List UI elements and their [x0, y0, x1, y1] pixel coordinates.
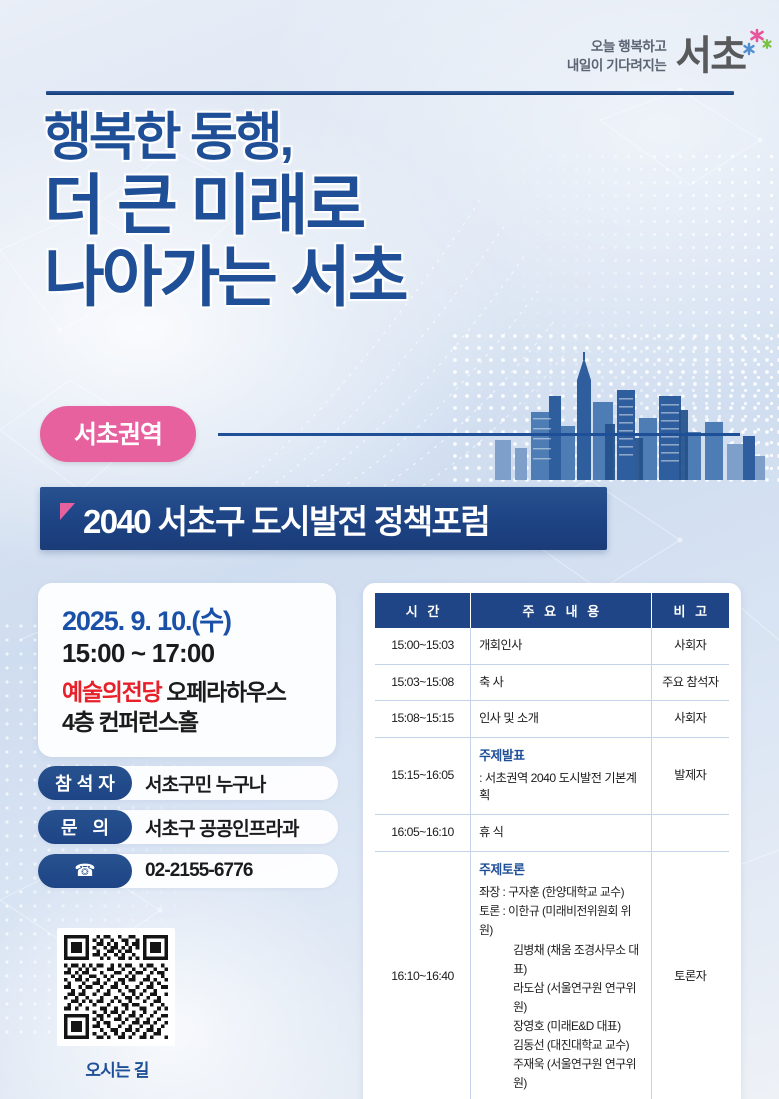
row-content: 휴 식 — [471, 814, 652, 851]
row-content: 축 사 — [471, 664, 652, 701]
table-row: 15:08~15:15 인사 및 소개 사회자 — [375, 701, 729, 738]
session-title-keynote: 주제발표 — [479, 747, 643, 766]
header-divider-rule — [46, 91, 734, 95]
event-date: 2025. 9. 10.(수) — [62, 605, 312, 637]
event-venue-line2: 4층 컨퍼런스홀 — [62, 708, 312, 738]
schedule-header-row: 시 간 주 요 내 용 비 고 — [375, 593, 729, 628]
row-note: 토론자 — [651, 851, 729, 1099]
headline-line-3: 나아가는 서초 — [44, 244, 604, 310]
qr-block[interactable]: 오시는 길 — [57, 928, 177, 1081]
row-content: 개회인사 — [471, 628, 652, 664]
table-row-panel: 16:10~16:40 주제토론 좌장 : 구자훈 (한양대학교 교수) 토론 … — [375, 851, 729, 1099]
row-time: 15:03~15:08 — [375, 664, 471, 701]
region-badge: 서초권역 — [40, 406, 196, 462]
table-row: 16:05~16:10 휴 식 — [375, 814, 729, 851]
row-note: 주요 참석자 — [651, 664, 729, 701]
table-row: 15:03~15:08 축 사 주요 참석자 — [375, 664, 729, 701]
schedule-table: 시 간 주 요 내 용 비 고 15:00~15:03 개회인사 사회자 15:… — [375, 593, 729, 1099]
forum-title: 2040 서초구 도시발전 정책포럼 — [83, 495, 489, 543]
row-time: 15:00~15:03 — [375, 628, 471, 664]
poster-headline: 행복한 동행, 더 큰 미래로 나아가는 서초 — [44, 112, 604, 310]
row-note: 발제자 — [651, 738, 729, 815]
session-subtitle-keynote: : 서초권역 2040 도시발전 기본계획 — [479, 770, 643, 805]
headline-line-2: 더 큰 미래로 — [44, 172, 604, 238]
panel-member: 김동선 (대진대학교 교수) — [479, 1036, 643, 1055]
logo-wordmark-group: 서초 — [675, 36, 745, 76]
pill-inquiry: 문 의 서초구 공공인프라과 — [38, 810, 338, 844]
venue-rest: 오페라하우스 — [161, 679, 285, 705]
panel-member: 라도삼 (서울연구원 연구위원) — [479, 979, 643, 1017]
logo-tagline: 오늘 행복하고 내일이 기다려지는 — [567, 37, 667, 75]
panel-member: 토론 : 이한규 (미래비전위원회 위원) — [479, 902, 643, 940]
row-time: 16:05~16:10 — [375, 814, 471, 851]
panel-member: 김병채 (채움 조경사무소 대표) — [479, 941, 643, 979]
pill-attendees: 참석자 서초구민 누구나 — [38, 766, 338, 800]
venue-highlight: 예술의전당 — [62, 679, 161, 705]
event-venue-line1: 예술의전당 오페라하우스 — [62, 678, 312, 708]
panel-member: 장영호 (미래E&D 대표) — [479, 1017, 643, 1036]
row-content: 주제발표 : 서초권역 2040 도시발전 기본계획 — [471, 738, 652, 815]
row-time: 15:08~15:15 — [375, 701, 471, 738]
session-title-panel: 주제토론 — [479, 861, 643, 880]
column-header-time: 시 간 — [375, 593, 471, 628]
telephone-icon: ☎ — [38, 854, 132, 888]
row-time: 15:15~16:05 — [375, 738, 471, 815]
region-divider-rule — [218, 433, 740, 436]
logo-wordmark: 서초 — [675, 36, 745, 76]
panel-member: 주재욱 (서울연구원 연구위원) — [479, 1055, 643, 1093]
row-note: 사회자 — [651, 628, 729, 664]
pill-label-attendees: 참석자 — [38, 766, 132, 800]
qr-code-svg — [64, 935, 168, 1039]
qr-code-image[interactable] — [57, 928, 175, 1046]
qr-caption: 오시는 길 — [57, 1056, 177, 1081]
panel-member-list: 좌장 : 구자훈 (한양대학교 교수) 토론 : 이한규 (미래비전위원회 위원… — [479, 883, 643, 1093]
table-row: 15:00~15:03 개회인사 사회자 — [375, 628, 729, 664]
row-content: 주제토론 좌장 : 구자훈 (한양대학교 교수) 토론 : 이한규 (미래비전위… — [471, 851, 652, 1099]
panel-chair: 좌장 : 구자훈 (한양대학교 교수) — [479, 883, 643, 902]
region-badge-row: 서초권역 — [40, 406, 740, 462]
pill-phone[interactable]: ☎ 02-2155-6776 — [38, 854, 338, 888]
poster-canvas: 오늘 행복하고 내일이 기다려지는 서초 — [0, 0, 779, 1099]
column-header-content: 주 요 내 용 — [471, 593, 652, 628]
event-info-card: 2025. 9. 10.(수) 15:00 ~ 17:00 예술의전당 오페라하… — [38, 583, 336, 757]
pill-value-phone: 02-2155-6776 — [132, 860, 253, 882]
column-header-note: 비 고 — [651, 593, 729, 628]
pill-value-inquiry: 서초구 공공인프라과 — [132, 814, 299, 841]
headline-line-1: 행복한 동행, — [44, 112, 604, 164]
row-note — [651, 814, 729, 851]
pill-value-attendees: 서초구민 누구나 — [132, 770, 265, 797]
schedule-table-card: 시 간 주 요 내 용 비 고 15:00~15:03 개회인사 사회자 15:… — [363, 583, 741, 1099]
row-content: 인사 및 소개 — [471, 701, 652, 738]
row-note: 사회자 — [651, 701, 729, 738]
forum-title-bar: 2040 서초구 도시발전 정책포럼 — [40, 487, 607, 550]
contact-pill-list: 참석자 서초구민 누구나 문 의 서초구 공공인프라과 ☎ 02-2155-67… — [38, 766, 338, 898]
event-time: 15:00 ~ 17:00 — [62, 637, 312, 670]
seocho-logo: 오늘 행복하고 내일이 기다려지는 서초 — [567, 36, 745, 76]
row-time: 16:10~16:40 — [375, 851, 471, 1099]
triangle-marker-icon — [60, 503, 75, 520]
pill-label-inquiry: 문 의 — [38, 810, 132, 844]
table-row-keynote: 15:15~16:05 주제발표 : 서초권역 2040 도시발전 기본계획 발… — [375, 738, 729, 815]
sparkle-stars-icon — [739, 28, 775, 62]
